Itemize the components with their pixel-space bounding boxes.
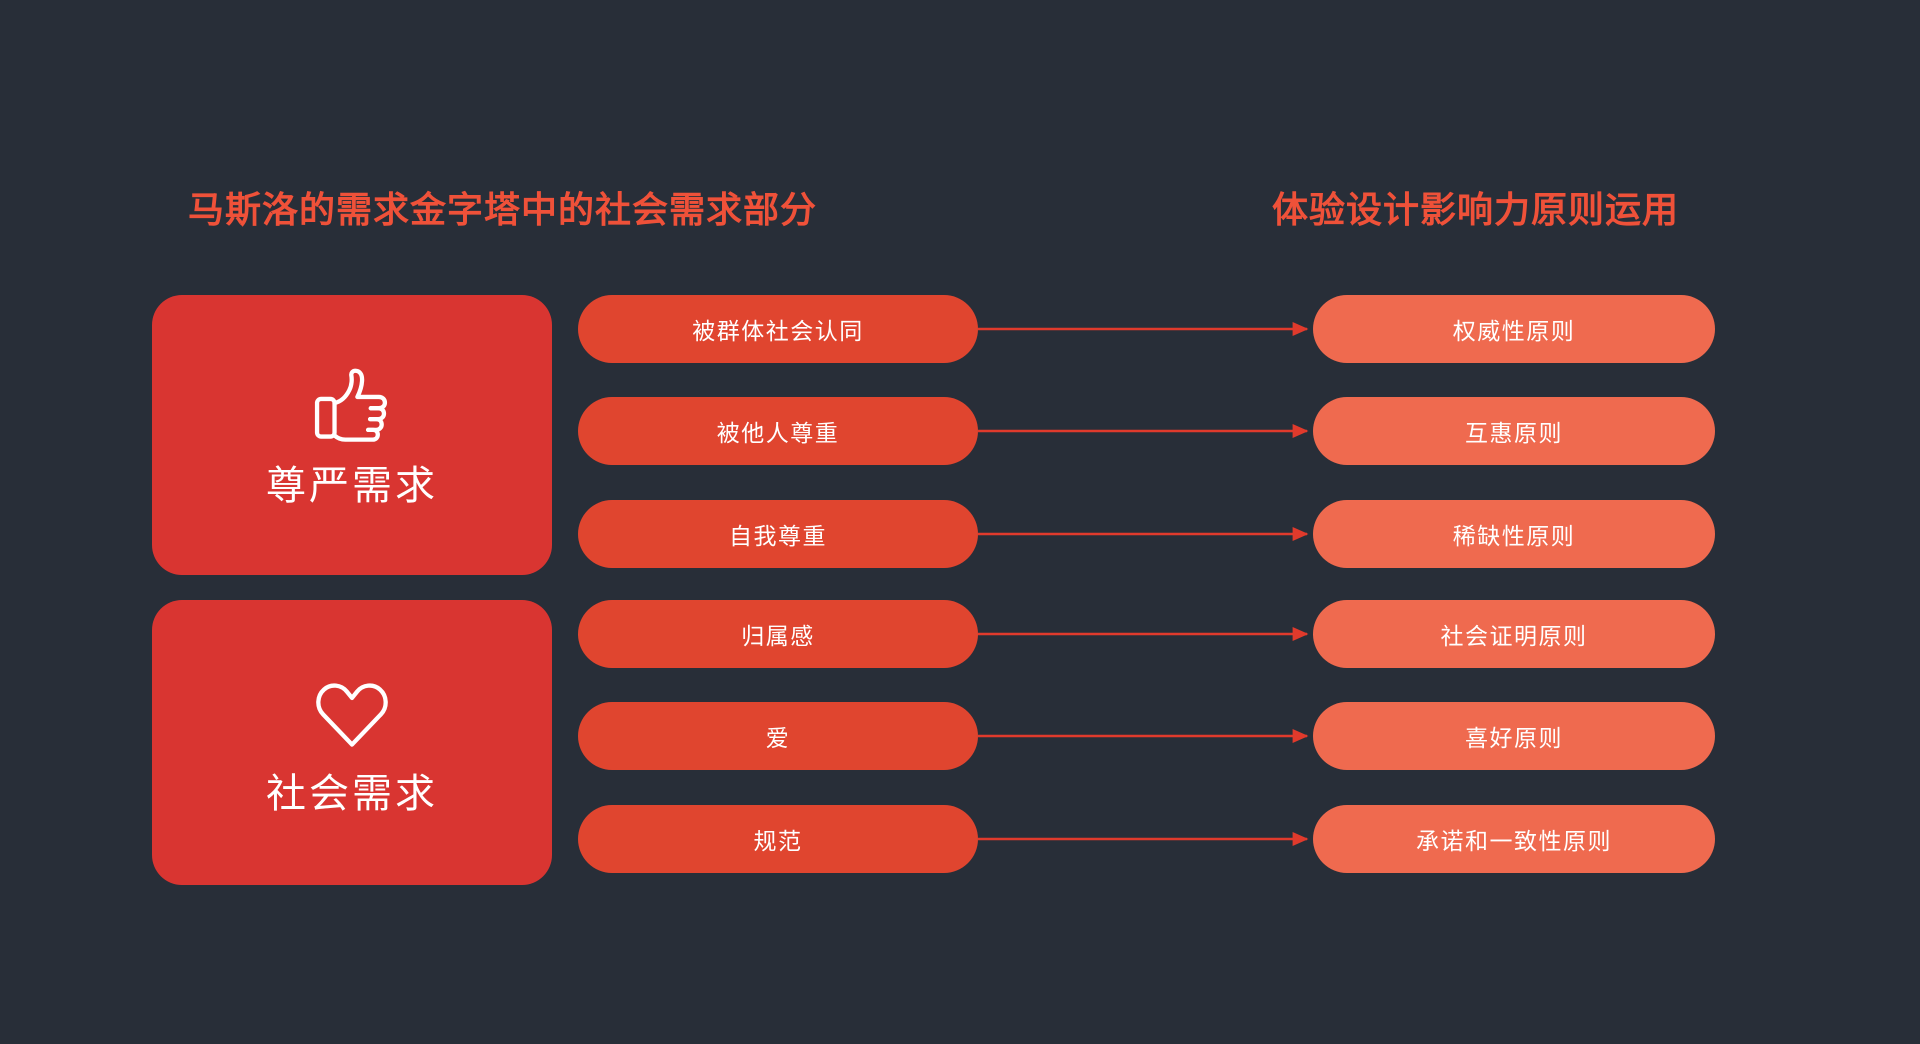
thumbs-up-icon (309, 364, 395, 450)
diagram-canvas: 马斯洛的需求金字塔中的社会需求部分 体验设计影响力原则运用 尊严需求 社会需求 … (0, 0, 1920, 1044)
principle-pill[interactable]: 承诺和一致性原则 (1313, 805, 1715, 873)
need-pill[interactable]: 归属感 (578, 600, 978, 668)
need-pill[interactable]: 爱 (578, 702, 978, 770)
need-pill[interactable]: 自我尊重 (578, 500, 978, 568)
page-title-left: 马斯洛的需求金字塔中的社会需求部分 (188, 181, 817, 233)
need-card-esteem[interactable]: 尊严需求 (152, 295, 552, 575)
need-pill[interactable]: 被群体社会认同 (578, 295, 978, 363)
need-card-label: 社会需求 (266, 774, 438, 814)
principle-pill[interactable]: 稀缺性原则 (1313, 500, 1715, 568)
principle-pill[interactable]: 权威性原则 (1313, 295, 1715, 363)
page-title-right: 体验设计影响力原则运用 (1272, 181, 1679, 233)
need-pill[interactable]: 规范 (578, 805, 978, 873)
principle-pill[interactable]: 喜好原则 (1313, 702, 1715, 770)
need-card-label: 尊严需求 (266, 466, 438, 506)
principle-pill[interactable]: 社会证明原则 (1313, 600, 1715, 668)
need-card-social[interactable]: 社会需求 (152, 600, 552, 885)
principle-pill[interactable]: 互惠原则 (1313, 397, 1715, 465)
heart-icon (309, 672, 395, 758)
need-pill[interactable]: 被他人尊重 (578, 397, 978, 465)
